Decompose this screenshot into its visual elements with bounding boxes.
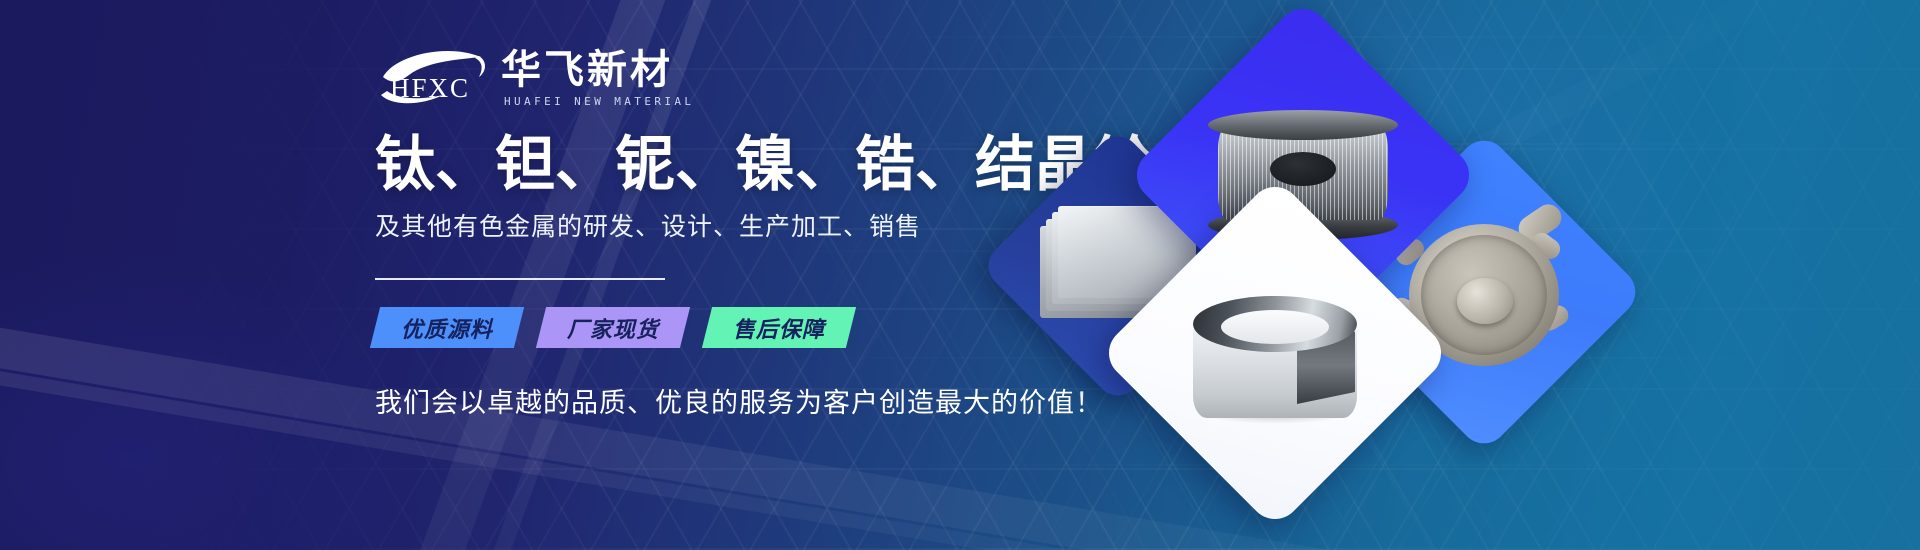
foil-coil-icon [1177,274,1373,432]
brand-abbr: HFXC [390,73,470,104]
feature-badge-0[interactable]: 优质源料 [370,307,524,348]
feature-badge-1[interactable]: 厂家现货 [536,307,690,348]
feature-badge-label: 厂家现货 [567,312,659,344]
background-glow-left [0,250,440,550]
hero-banner: HFXC 华飞新材 HUAFEI NEW MATERIAL 钛、钽、铌、镍、锆、… [0,0,1920,550]
feature-badge-2[interactable]: 售后保障 [702,307,856,348]
product-showcase [1060,0,1920,550]
hero-divider [375,278,665,280]
brand-name-cn: 华飞新材 [501,48,694,92]
feature-badge-label: 售后保障 [733,312,825,344]
brand-name-en: HUAFEI NEW MATERIAL [504,95,694,108]
swoosh-logo-icon: HFXC [375,47,495,109]
feature-badge-label: 优质源料 [401,312,493,344]
